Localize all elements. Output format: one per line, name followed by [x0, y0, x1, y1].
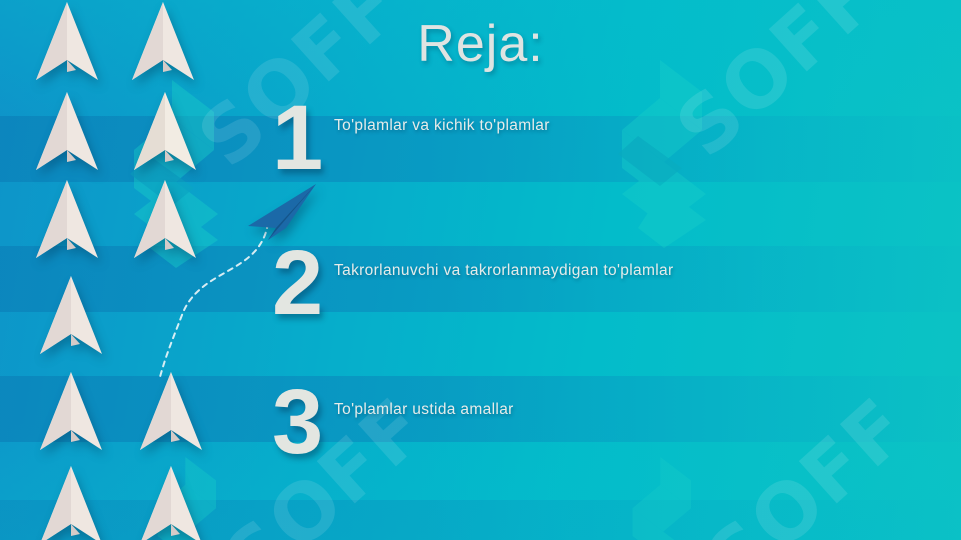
- list-item[interactable]: 3 To'plamlar ustida amallar: [272, 385, 514, 460]
- list-item-number: 1: [272, 101, 334, 176]
- list-item-number: 3: [272, 385, 334, 460]
- list-item-label: To'plamlar va kichik to'plamlar: [334, 101, 550, 135]
- list-item-label: Takrorlanuvchi va takrorlanmaydigan to'p…: [334, 246, 674, 280]
- list-item-label: To'plamlar ustida amallar: [334, 385, 514, 419]
- presentation-slide: SOFF SOFF SOFF SOFF: [0, 0, 961, 540]
- agenda-list: 1 To'plamlar va kichik to'plamlar 2 Takr…: [0, 0, 961, 540]
- list-item[interactable]: 1 To'plamlar va kichik to'plamlar: [272, 101, 550, 176]
- list-item-number: 2: [272, 246, 334, 321]
- list-item[interactable]: 2 Takrorlanuvchi va takrorlanmaydigan to…: [272, 246, 674, 321]
